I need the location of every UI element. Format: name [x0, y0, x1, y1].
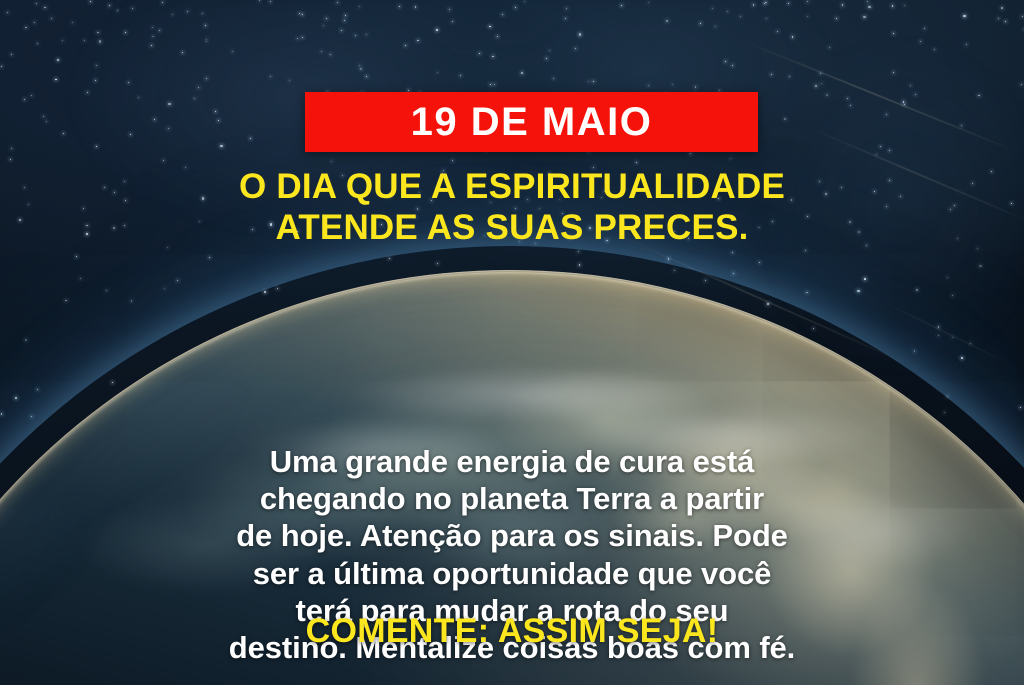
headline: O DIA QUE A ESPIRITUALIDADE ATENDE AS SU…: [0, 166, 1024, 249]
date-banner: 19 DE MAIO: [305, 92, 758, 152]
headline-line-1: O DIA QUE A ESPIRITUALIDADE: [44, 166, 980, 207]
date-banner-text: 19 DE MAIO: [411, 102, 653, 142]
body-line-2: chegando no planeta Terra a partir: [34, 480, 990, 517]
body-line-3: de hoje. Atenção para os sinais. Pode: [34, 517, 990, 554]
poster-content: 19 DE MAIO O DIA QUE A ESPIRITUALIDADE A…: [0, 0, 1024, 685]
body-line-4: ser a última oportunidade que você: [34, 555, 990, 592]
headline-line-2: ATENDE AS SUAS PRECES.: [44, 207, 980, 248]
body-line-1: Uma grande energia de cura está: [34, 443, 990, 480]
poster-canvas: 19 DE MAIO O DIA QUE A ESPIRITUALIDADE A…: [0, 0, 1024, 685]
call-to-action-text: COMENTE: ASSIM SEJA!: [0, 613, 1024, 650]
